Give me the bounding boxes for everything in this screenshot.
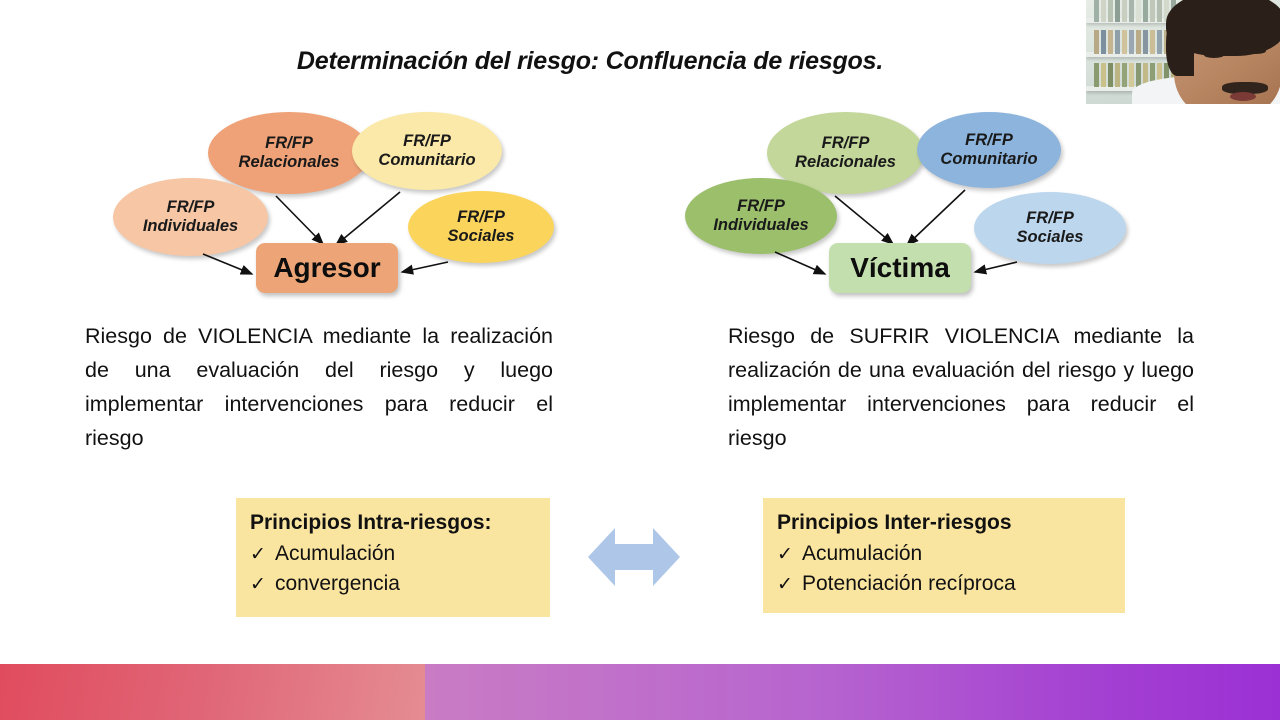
diagram-victim: FR/FP Relacionales FR/FP Comunitario FR/… bbox=[665, 104, 1185, 304]
bottom-bar-right-segment bbox=[425, 664, 1280, 720]
factor-ellipse-sociales[interactable]: FR/FP Sociales bbox=[974, 192, 1126, 264]
check-icon: ✓ bbox=[777, 541, 802, 569]
target-box-victima[interactable]: Víctima bbox=[829, 243, 971, 293]
target-box-label: Víctima bbox=[850, 252, 950, 284]
factor-line-1: FR/FP bbox=[457, 208, 505, 227]
factor-ellipse-comunitario[interactable]: FR/FP Comunitario bbox=[352, 112, 502, 190]
check-icon: ✓ bbox=[250, 571, 275, 599]
factor-line-1: FR/FP bbox=[737, 197, 785, 216]
factor-line-2: Relacionales bbox=[239, 153, 340, 172]
bookshelf-books bbox=[1094, 30, 1176, 54]
presenter-mouth bbox=[1230, 92, 1256, 101]
list-item-label: convergencia bbox=[275, 569, 400, 599]
page-title: Determinación del riesgo: Confluencia de… bbox=[0, 47, 1180, 76]
check-icon: ✓ bbox=[250, 541, 275, 569]
principles-title: Principios Inter-riesgos bbox=[777, 511, 1109, 535]
presenter-eye-right bbox=[1246, 48, 1266, 54]
list-item-label: Potenciación recíproca bbox=[802, 569, 1016, 599]
factor-line-2: Comunitario bbox=[940, 150, 1037, 169]
presenter-hair-side bbox=[1166, 10, 1194, 76]
list-item: ✓ Potenciación recíproca bbox=[777, 569, 1109, 599]
presenter-eyebrow-right bbox=[1242, 39, 1270, 44]
factor-line-2: Sociales bbox=[448, 227, 515, 246]
list-item: ✓ Acumulación bbox=[250, 539, 534, 569]
principles-box-inter[interactable]: Principios Inter-riesgos ✓ Acumulación ✓… bbox=[763, 498, 1125, 613]
factor-line-2: Relacionales bbox=[795, 153, 896, 172]
presenter-eye-left bbox=[1204, 52, 1224, 58]
factor-line-2: Individuales bbox=[713, 216, 808, 235]
check-icon: ✓ bbox=[777, 571, 802, 599]
factor-line-1: FR/FP bbox=[265, 134, 313, 153]
factor-line-1: FR/FP bbox=[822, 134, 870, 153]
principles-title: Principios Intra-riesgos: bbox=[250, 511, 534, 535]
bottom-color-bar bbox=[0, 664, 1280, 720]
presenter-eyebrow-left bbox=[1200, 43, 1226, 48]
factor-ellipse-relacionales[interactable]: FR/FP Relacionales bbox=[208, 112, 370, 194]
factor-line-1: FR/FP bbox=[965, 131, 1013, 150]
factor-line-2: Sociales bbox=[1017, 228, 1084, 247]
factor-ellipse-comunitario[interactable]: FR/FP Comunitario bbox=[917, 112, 1061, 188]
list-item: ✓ convergencia bbox=[250, 569, 534, 599]
diagram-aggressor: FR/FP Relacionales FR/FP Comunitario FR/… bbox=[80, 104, 600, 304]
factor-line-1: FR/FP bbox=[1026, 209, 1074, 228]
factor-ellipse-individuales[interactable]: FR/FP Individuales bbox=[113, 178, 268, 256]
principles-box-intra[interactable]: Principios Intra-riesgos: ✓ Acumulación … bbox=[236, 498, 550, 617]
presenter-webcam-feed[interactable] bbox=[1086, 0, 1280, 104]
bookshelf-books bbox=[1094, 0, 1176, 22]
bottom-bar-left-segment bbox=[0, 664, 425, 720]
list-item-label: Acumulación bbox=[275, 539, 395, 569]
factor-ellipse-sociales[interactable]: FR/FP Sociales bbox=[408, 191, 554, 263]
target-box-label: Agresor bbox=[273, 252, 380, 284]
list-item: ✓ Acumulación bbox=[777, 539, 1109, 569]
factor-line-2: Individuales bbox=[143, 217, 238, 236]
factor-ellipse-individuales[interactable]: FR/FP Individuales bbox=[685, 178, 837, 254]
double-headed-arrow-icon bbox=[588, 526, 680, 588]
factor-line-2: Comunitario bbox=[378, 151, 475, 170]
description-paragraph-victim: Riesgo de SUFRIR VIOLENCIA mediante la r… bbox=[728, 320, 1194, 456]
presentation-slide: Determinación del riesgo: Confluencia de… bbox=[0, 0, 1280, 720]
description-paragraph-aggressor: Riesgo de VIOLENCIA mediante la realizac… bbox=[85, 320, 553, 456]
target-box-agresor[interactable]: Agresor bbox=[256, 243, 398, 293]
list-item-label: Acumulación bbox=[802, 539, 922, 569]
factor-line-1: FR/FP bbox=[167, 198, 215, 217]
factor-line-1: FR/FP bbox=[403, 132, 451, 151]
